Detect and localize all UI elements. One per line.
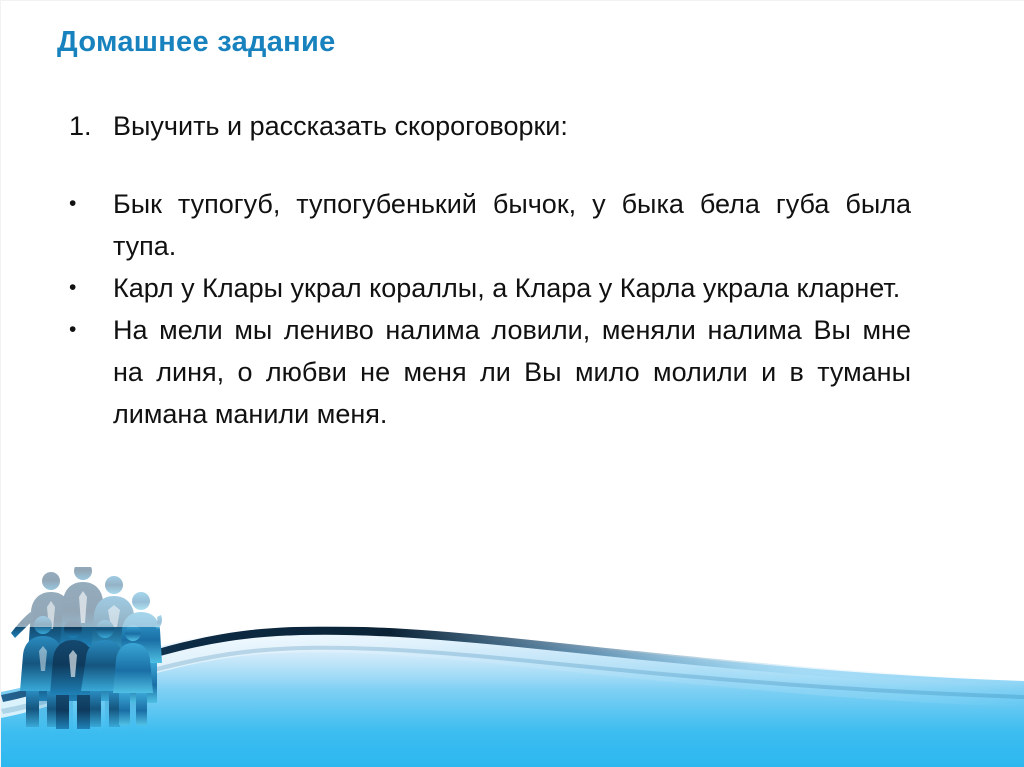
silhouette-reflections — [31, 683, 141, 739]
artwork-top-fade — [1, 567, 1024, 627]
person-silhouette-front-3 — [81, 620, 129, 727]
list-item-text: Выучить и рассказать скороговорки: — [113, 105, 911, 147]
person-silhouette-back-2 — [60, 567, 106, 701]
bullet-icon: • — [61, 183, 113, 225]
bullet-icon: • — [61, 267, 113, 309]
business-people-wave-graphic — [1, 567, 1024, 767]
list-item-text: Бык тупогуб, тупогубенький бычок, у быка… — [113, 183, 911, 267]
page-title: Домашнее задание — [57, 25, 937, 60]
wave-body — [1, 626, 1024, 767]
person-silhouette-back-1 — [11, 572, 74, 701]
list-spacer — [61, 147, 911, 183]
list-item: • На мели мы лениво налима ловили, менял… — [61, 309, 911, 435]
person-silhouette-back-3 — [91, 576, 137, 701]
business-people-silhouettes — [11, 567, 162, 729]
content-list: 1. Выучить и рассказать скороговорки: • … — [61, 105, 911, 435]
person-silhouette-front-4 — [113, 625, 153, 725]
person-silhouette-front-2 — [50, 620, 96, 729]
bullet-icon: • — [61, 309, 113, 351]
list-item-text: Карл у Клары украл кораллы, а Клара у Ка… — [113, 267, 911, 309]
presentation-slide: Домашнее задание 1. Выучить и рассказать… — [0, 0, 1024, 767]
wave-crest-line — [1, 626, 1024, 702]
list-item: 1. Выучить и рассказать скороговорки: — [61, 105, 911, 147]
list-marker-number: 1. — [61, 105, 113, 147]
person-silhouette-back-4 — [120, 592, 162, 703]
list-item: • Бык тупогуб, тупогубенький бычок, у бы… — [61, 183, 911, 267]
list-item-text: На мели мы лениво налима ловили, меняли … — [113, 309, 911, 435]
wave-foam — [1, 629, 1024, 718]
wave-crest-echo — [1, 646, 1024, 714]
list-item: • Карл у Клары украл кораллы, а Клара у … — [61, 267, 911, 309]
person-silhouette-front-1 — [20, 616, 66, 727]
